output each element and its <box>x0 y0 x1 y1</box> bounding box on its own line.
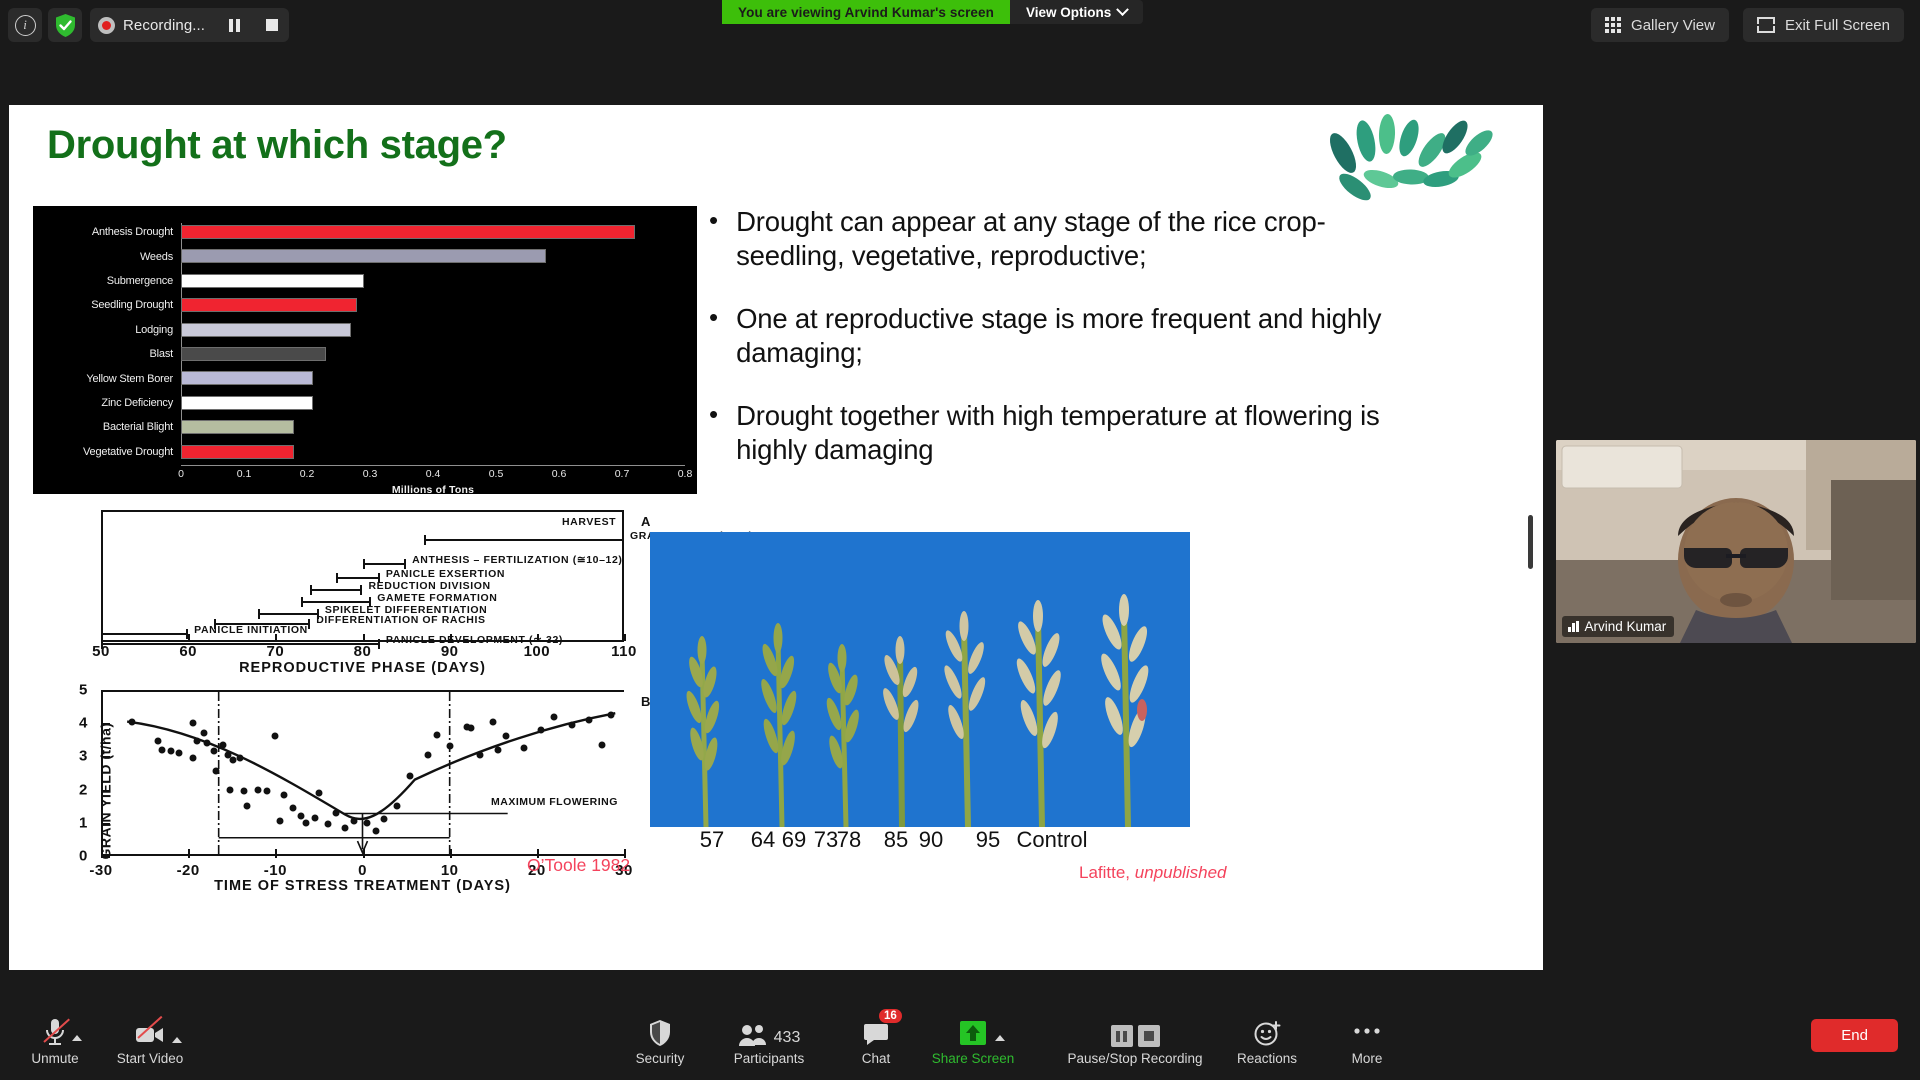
bar <box>181 323 351 337</box>
exit-fullscreen-icon <box>1757 17 1775 33</box>
bar-chart-tick-label: 0.7 <box>615 468 630 480</box>
scatter-y-tick-mark <box>101 823 110 825</box>
bullet-item: • Drought can appear at any stage of the… <box>709 205 1429 272</box>
timeline-stage-bar <box>363 563 407 565</box>
bullet-text: One at reproductive stage is more freque… <box>736 302 1429 369</box>
chat-bubble-icon: 16 <box>863 1015 889 1047</box>
scatter-point <box>289 804 296 811</box>
toolbar-share-screen-label: Share Screen <box>932 1051 1015 1066</box>
scatter-point <box>333 809 340 816</box>
lafitte-credit: Lafitte, unpublished <box>1079 863 1226 883</box>
slide-bullet-list: • Drought can appear at any stage of the… <box>709 205 1429 496</box>
bar-chart-row: Seedling Drought <box>33 293 697 317</box>
bar-track <box>181 366 697 390</box>
timeline-stage-bar <box>336 577 380 579</box>
toolbar-chat-button[interactable]: 16 Chat <box>821 1015 931 1066</box>
scatter-point <box>520 745 527 752</box>
scatter-y-tick-label: 2 <box>79 781 87 798</box>
panicle-photo-label: 95 <box>976 827 1000 853</box>
slide-title: Drought at which stage? <box>47 123 507 168</box>
scatter-point <box>324 821 331 828</box>
bar-category-label: Blast <box>33 348 181 360</box>
panicle-photo <box>650 532 1190 827</box>
scatter-x-tick-label: -20 <box>177 862 200 879</box>
bar-category-label: Submergence <box>33 275 181 287</box>
scatter-point <box>240 788 247 795</box>
participant-video-tile[interactable]: Arvind Kumar <box>1556 440 1916 643</box>
view-options-label: View Options <box>1026 5 1111 20</box>
scatter-y-tick-mark <box>101 690 110 692</box>
bar-category-label: Bacterial Blight <box>33 421 181 433</box>
panicle-photo-label: 57 <box>700 827 724 853</box>
bar-category-label: Anthesis Drought <box>33 226 181 238</box>
share-up-arrow-icon <box>959 1015 987 1047</box>
scatter-x-tick-label: 10 <box>441 862 459 879</box>
scatter-point <box>189 755 196 762</box>
scatter-x-title: TIME OF STRESS TREATMENT (DAYS) <box>101 878 624 894</box>
bullet-text: Drought can appear at any stage of the r… <box>736 205 1429 272</box>
timeline-stage-label: PANICLE EXSERTION <box>386 568 505 580</box>
toolbar-more-label: More <box>1352 1051 1383 1066</box>
top-right-controls: Gallery View Exit Full Screen <box>1591 8 1904 42</box>
stop-icon <box>266 19 278 31</box>
scatter-point <box>503 733 510 740</box>
scatter-x-tick-mark <box>363 849 365 858</box>
stop-recording-button[interactable] <box>257 8 287 42</box>
bottom-toolbar: Unmute Start Video Security <box>0 988 1920 1080</box>
timeline-tick-label: 60 <box>179 643 197 660</box>
scatter-point <box>350 818 357 825</box>
bar-chart-row: Blast <box>33 342 697 366</box>
bar-chart-row: Vegetative Drought <box>33 440 697 464</box>
bar-chart-x-ticks: 00.10.20.30.40.50.60.70.8 <box>181 468 685 484</box>
bar-track <box>181 220 697 244</box>
gallery-view-label: Gallery View <box>1631 17 1715 34</box>
bullet-item: • One at reproductive stage is more freq… <box>709 302 1429 369</box>
scatter-point <box>281 791 288 798</box>
scatter-point <box>568 721 575 728</box>
scatter-y-tick-mark <box>101 756 110 758</box>
panel-label-a: A <box>641 514 651 529</box>
bullet-marker: • <box>709 302 718 369</box>
scatter-y-tick-label: 5 <box>79 682 87 699</box>
recording-indicator: Recording... <box>90 8 289 42</box>
bar-track <box>181 244 697 268</box>
bar-chart-tick-label: 0.1 <box>237 468 252 480</box>
bar-chart-tick-label: 0.2 <box>300 468 315 480</box>
scatter-point <box>154 738 161 745</box>
share-options-caret-icon[interactable] <box>995 1035 1005 1041</box>
lafitte-credit-name: Lafitte, <box>1079 863 1130 882</box>
bar-chart-tick-label: 0.3 <box>363 468 378 480</box>
scatter-x-tick-mark <box>101 849 103 858</box>
screen-share-status: You are viewing Arvind Kumar's screen Vi… <box>722 0 1143 24</box>
scatter-point <box>538 726 545 733</box>
scatter-point <box>363 819 370 826</box>
bar <box>181 347 326 361</box>
timeline-tick-label: 100 <box>524 643 551 660</box>
scatter-point <box>490 718 497 725</box>
timeline-tick-label: 110 <box>611 643 637 660</box>
shield-icon <box>54 13 77 38</box>
timeline-stage-bar <box>301 601 371 603</box>
bar-category-label: Seedling Drought <box>33 299 181 311</box>
bar <box>181 249 546 263</box>
top-left-controls: i Recording... <box>8 8 289 42</box>
scatter-point <box>220 741 227 748</box>
scatter-y-tick-label: 4 <box>79 715 87 732</box>
timeline-tick-mark <box>101 634 103 641</box>
scatter-point <box>315 789 322 796</box>
timeline-tick-mark <box>275 634 277 641</box>
scatter-point <box>167 748 174 755</box>
encryption-shield-button[interactable] <box>48 8 82 42</box>
scatter-point <box>200 730 207 737</box>
chat-unread-badge: 16 <box>879 1009 902 1023</box>
timeline-x-title: REPRODUCTIVE PHASE (DAYS) <box>101 660 624 676</box>
timeline-tick-mark <box>363 634 365 641</box>
scatter-point <box>342 824 349 831</box>
top-toolbar: i Recording... <box>0 0 1920 52</box>
panicle-photo-label: 85 <box>884 827 908 853</box>
bar-track <box>181 342 697 366</box>
bar <box>181 298 357 312</box>
participants-count: 433 <box>774 1029 801 1047</box>
panicle-photo-label: 64 <box>751 827 775 853</box>
pause-stop-icon <box>1111 1015 1160 1047</box>
viewing-banner-label: You are viewing Arvind Kumar's screen <box>722 0 1010 24</box>
bar-track <box>181 293 697 317</box>
bullet-marker: • <box>709 205 718 272</box>
scatter-point <box>551 713 558 720</box>
bullet-item: • Drought together with high temperature… <box>709 399 1429 466</box>
bar-track <box>181 318 697 342</box>
scatter-point <box>227 786 234 793</box>
losses-bar-chart: Anthesis DroughtWeedsSubmergenceSeedling… <box>33 206 697 494</box>
microphone-muted-icon <box>42 1015 68 1047</box>
bar <box>181 225 635 239</box>
timeline-tick-mark <box>537 634 539 641</box>
scatter-point <box>272 733 279 740</box>
otoole-credit: O’Toole 1982 <box>527 855 630 876</box>
scatter-point <box>433 731 440 738</box>
scatter-point <box>237 755 244 762</box>
scatter-point <box>230 756 237 763</box>
scatter-x-tick-mark <box>275 849 277 858</box>
bar-chart-row: Weeds <box>33 244 697 268</box>
scatter-point <box>599 741 606 748</box>
toolbar-start-video-button[interactable]: Start Video <box>95 1015 205 1066</box>
bar <box>181 371 313 385</box>
scatter-point <box>213 768 220 775</box>
bar-category-label: Vegetative Drought <box>33 446 181 458</box>
scatter-point <box>424 751 431 758</box>
scatter-x-tick-label: 0 <box>358 862 367 879</box>
timeline-stage-bar <box>101 633 188 635</box>
info-icon: i <box>15 15 36 36</box>
end-meeting-label: End <box>1841 1027 1868 1044</box>
grid-icon <box>1605 17 1621 33</box>
scatter-point <box>302 819 309 826</box>
panicle-photo-label: Control <box>1017 827 1088 853</box>
timeline-tick-label: 50 <box>92 643 110 660</box>
scatter-y-tick-label: 0 <box>79 848 87 865</box>
scatter-point <box>586 716 593 723</box>
scatter-point <box>394 803 401 810</box>
video-options-caret-icon[interactable] <box>172 1037 182 1043</box>
max-flowering-annotation: MAXIMUM FLOWERING <box>491 796 618 808</box>
bar-chart-x-axis <box>181 465 685 466</box>
lafitte-credit-note: unpublished <box>1135 863 1227 882</box>
scatter-point <box>189 720 196 727</box>
panicle-photo-label: 69 <box>782 827 806 853</box>
toolbar-reactions-button[interactable]: Reactions <box>1212 1015 1322 1066</box>
scatter-point <box>311 814 318 821</box>
timeline-stage-label: HARVEST <box>562 516 616 528</box>
toolbar-participants-label: Participants <box>734 1051 805 1066</box>
end-meeting-button[interactable]: End <box>1811 1019 1898 1052</box>
timeline-stage-bar <box>101 643 380 645</box>
scatter-point <box>372 828 379 835</box>
scatter-x-tick-mark <box>188 849 190 858</box>
video-drag-handle[interactable] <box>1528 515 1533 569</box>
shared-screen-slide: Drought at which stage? Anthesis Drought… <box>9 105 1543 970</box>
timeline-tick-label: 90 <box>441 643 459 660</box>
panicle-photo-image <box>650 532 1190 827</box>
scatter-point <box>159 746 166 753</box>
scatter-point <box>244 803 251 810</box>
bar-category-label: Yellow Stem Borer <box>33 373 181 385</box>
participant-video-image <box>1556 440 1916 643</box>
scatter-point <box>211 748 218 755</box>
gallery-view-button[interactable]: Gallery View <box>1591 8 1729 42</box>
bar <box>181 420 294 434</box>
scatter-y-tick-mark <box>101 723 110 725</box>
bar-category-label: Lodging <box>33 324 181 336</box>
zoom-window: i Recording... <box>0 0 1920 1080</box>
participant-name-badge: Arvind Kumar <box>1562 616 1674 637</box>
bar-chart-tick-label: 0.6 <box>552 468 567 480</box>
bar-chart-tick-label: 0.4 <box>426 468 441 480</box>
toolbar-unmute-button[interactable]: Unmute <box>0 1015 110 1066</box>
panicle-photo-label: 78 <box>837 827 861 853</box>
toolbar-recording-label: Pause/Stop Recording <box>1067 1051 1202 1066</box>
scatter-point <box>607 711 614 718</box>
bar-chart-rows: Anthesis DroughtWeedsSubmergenceSeedling… <box>33 220 697 464</box>
toolbar-start-video-label: Start Video <box>117 1051 184 1066</box>
scatter-point <box>276 818 283 825</box>
timeline-tick-label: 70 <box>266 643 284 660</box>
record-dot-icon <box>98 17 115 34</box>
scatter-point <box>494 746 501 753</box>
timeline-tick-label: 80 <box>354 643 372 660</box>
scatter-point <box>128 718 135 725</box>
timeline-stage-label: DIFFERENTIATION OF RACHIS <box>316 614 485 626</box>
toolbar-reactions-label: Reactions <box>1237 1051 1297 1066</box>
scatter-point <box>477 751 484 758</box>
bar-chart-tick-label: 0.5 <box>489 468 504 480</box>
timeline-tick-mark <box>450 634 452 641</box>
panicle-photo-label: 73 <box>814 827 838 853</box>
meeting-info-button[interactable]: i <box>8 8 42 42</box>
scatter-point <box>381 816 388 823</box>
scatter-point <box>176 750 183 757</box>
bar-track <box>181 269 697 293</box>
participant-name: Arvind Kumar <box>1585 619 1667 634</box>
recording-label: Recording... <box>123 17 211 34</box>
view-options-button[interactable]: View Options <box>1010 0 1143 24</box>
toolbar-unmute-label: Unmute <box>31 1051 78 1066</box>
scatter-point <box>446 743 453 750</box>
scatter-y-tick-label: 3 <box>79 748 87 765</box>
scatter-x-tick-mark <box>450 849 452 858</box>
toolbar-chat-label: Chat <box>862 1051 891 1066</box>
bar-category-label: Zinc Deficiency <box>33 397 181 409</box>
timeline-tick-mark <box>188 634 190 641</box>
audio-options-caret-icon[interactable] <box>72 1035 82 1041</box>
bar-chart-row: Yellow Stem Borer <box>33 366 697 390</box>
camera-muted-icon <box>134 1015 166 1047</box>
pause-icon <box>229 19 240 32</box>
timeline-stage-label: GAMETE FORMATION <box>377 592 497 604</box>
scatter-x-tick-label: -10 <box>264 862 287 879</box>
scatter-point <box>468 725 475 732</box>
audio-bars-icon <box>1568 621 1579 632</box>
scatter-y-tick-mark <box>101 790 110 792</box>
bar-chart-tick-label: 0.8 <box>678 468 693 480</box>
reproductive-phase-timeline: HARVESTGRAIN FILLING (≃ 25)ANTHESIS – FE… <box>39 500 659 660</box>
scatter-frame <box>101 690 624 856</box>
bar-chart-tick-label: 0 <box>178 468 184 480</box>
bar <box>181 396 313 410</box>
timeline-stage-bar <box>258 613 319 615</box>
toolbar-security-button[interactable]: Security <box>605 1015 715 1066</box>
bar-chart-row: Submergence <box>33 269 697 293</box>
panicle-photo-labels: 5764697378859095Control <box>650 827 1230 863</box>
bar-track <box>181 391 697 415</box>
pause-recording-button[interactable] <box>219 8 249 42</box>
people-icon: 433 <box>738 1015 801 1047</box>
timeline-stage-label: REDUCTION DIVISION <box>369 580 491 592</box>
otoole-figure: HARVESTGRAIN FILLING (≃ 25)ANTHESIS – FE… <box>39 500 659 900</box>
exit-full-screen-button[interactable]: Exit Full Screen <box>1743 8 1904 42</box>
chevron-down-icon <box>1116 3 1129 16</box>
bar-track <box>181 415 697 439</box>
bar-chart-row: Anthesis Drought <box>33 220 697 244</box>
scatter-point <box>254 786 261 793</box>
timeline-stage-bar <box>424 539 624 541</box>
bar-category-label: Weeds <box>33 251 181 263</box>
bar-chart-x-title: Millions of Tons <box>181 484 685 496</box>
scatter-point <box>407 773 414 780</box>
ellipsis-icon <box>1352 1015 1382 1047</box>
bar-chart-row: Bacterial Blight <box>33 415 697 439</box>
scatter-point <box>204 740 211 747</box>
scatter-x-tick-label: -30 <box>89 862 112 879</box>
timeline-tick-mark <box>624 634 626 641</box>
timeline-stage-label: ANTHESIS – FERTILIZATION (≅10–12) <box>412 554 622 566</box>
bullet-marker: • <box>709 399 718 466</box>
scatter-point <box>263 788 270 795</box>
bar <box>181 445 294 459</box>
bar-track <box>181 440 697 464</box>
bullet-text: Drought together with high temperature a… <box>736 399 1429 466</box>
bar-chart-row: Zinc Deficiency <box>33 391 697 415</box>
toolbar-more-button[interactable]: More <box>1312 1015 1422 1066</box>
bar-chart-row: Lodging <box>33 318 697 342</box>
toolbar-participants-button[interactable]: 433 Participants <box>714 1015 824 1066</box>
smiley-plus-icon <box>1253 1015 1281 1047</box>
leaf-decoration-icon <box>1319 107 1509 217</box>
timeline-stage-label: PANICLE INITIATION <box>194 624 308 636</box>
scatter-point <box>193 738 200 745</box>
scatter-y-tick-label: 1 <box>79 814 87 831</box>
bar <box>181 274 364 288</box>
toolbar-security-label: Security <box>636 1051 685 1066</box>
exit-full-screen-label: Exit Full Screen <box>1785 17 1890 34</box>
panicle-photo-label: 90 <box>919 827 943 853</box>
timeline-stage-bar <box>310 589 362 591</box>
shield-icon <box>648 1015 672 1047</box>
